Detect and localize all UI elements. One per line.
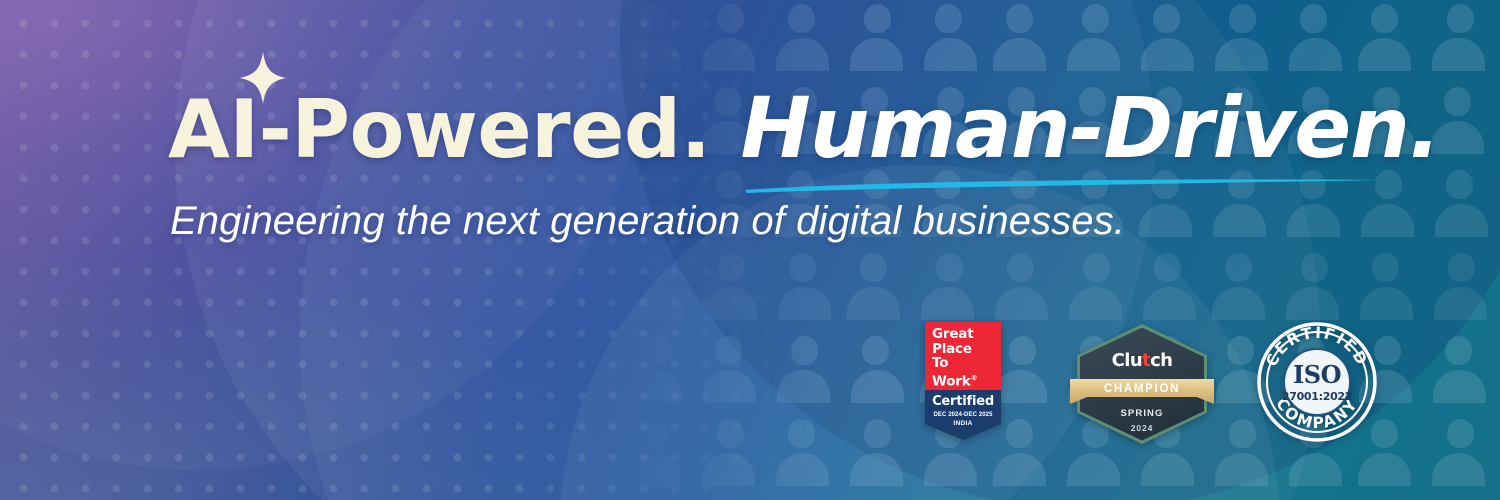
employee-photo-tile <box>839 0 912 71</box>
employee-photo-tile <box>1423 0 1496 71</box>
employee-photo-tile <box>1496 320 1500 403</box>
clutch-year: 2024 <box>1070 423 1214 433</box>
employee-photo-tile <box>1496 237 1500 320</box>
gptw-line-3: To <box>932 356 1001 371</box>
clutch-award-label: CHAMPION <box>1070 379 1214 398</box>
employee-photo-tile <box>1496 71 1500 154</box>
employee-photo-tile <box>1350 237 1423 320</box>
employee-photo-tile <box>839 403 912 486</box>
employee-photo-tile <box>1423 486 1496 500</box>
employee-photo-tile <box>839 237 912 320</box>
gptw-line-1: Great <box>932 327 1001 342</box>
iso-standard-label: ISO <box>1293 363 1341 387</box>
employee-photo-tile <box>620 0 693 71</box>
employee-photo-tile <box>1423 320 1496 403</box>
subtitle: Engineering the next generation of digit… <box>170 199 1125 244</box>
headline: AI-Powered. Human-Driven. <box>168 86 1440 170</box>
employee-photo-tile <box>1350 0 1423 71</box>
hero-banner: AI-Powered. Human-Driven. Engineering th… <box>0 0 1500 500</box>
employee-photo-tile <box>1496 154 1500 237</box>
badge-clutch-champion[interactable]: Clutch CHAMPION SPRING 2024 <box>1070 324 1214 444</box>
employee-photo-tile <box>839 320 912 403</box>
gptw-line-2: Place <box>932 342 1001 357</box>
employee-photo-tile <box>1496 486 1500 500</box>
gptw-red-panel: Great Place To Work® <box>925 322 1001 390</box>
employee-photo-tile <box>1496 0 1500 71</box>
employee-photo-tile <box>693 320 766 403</box>
employee-photo-tile <box>1204 237 1277 320</box>
gptw-date-range: DEC 2024-DEC 2025 <box>925 412 1001 418</box>
employee-photo-tile <box>1496 403 1500 486</box>
employee-photo-tile <box>766 0 839 71</box>
iso-center-disc: ISO 27001:2022 <box>1283 348 1351 416</box>
employee-photo-tile <box>1204 486 1277 500</box>
clutch-season: SPRING <box>1070 408 1214 419</box>
employee-photo-tile <box>1423 237 1496 320</box>
clutch-accent-letter: t <box>1142 350 1150 371</box>
polka-dot-pattern <box>0 0 820 500</box>
employee-photo-tile <box>1204 0 1277 71</box>
employee-photo-tile <box>1131 0 1204 71</box>
employee-photo-tile <box>766 320 839 403</box>
employee-photo-tile <box>912 486 985 500</box>
employee-photo-tile <box>1277 0 1350 71</box>
employee-photo-tile <box>620 237 693 320</box>
employee-photo-tile <box>1277 237 1350 320</box>
employee-photo-tile <box>693 486 766 500</box>
headline-part-1: AI-Powered. <box>168 90 711 170</box>
headline-part-2-wrapper: Human-Driven. <box>741 86 1440 170</box>
badge-iso-certified[interactable]: CERTIFIED COMPANY ISO 27001:2022 <box>1257 322 1377 442</box>
employee-photo-tile <box>693 237 766 320</box>
underline-swoosh <box>743 178 1383 194</box>
employee-photo-tile <box>1058 486 1131 500</box>
employee-photo-tile <box>693 403 766 486</box>
employee-photo-tile <box>620 320 693 403</box>
badge-great-place-to-work[interactable]: Great Place To Work® Certified DEC 2024-… <box>925 322 1001 440</box>
gptw-navy-panel: Certified DEC 2024-DEC 2025 INDIA <box>925 390 1001 440</box>
employee-photo-tile <box>693 0 766 71</box>
employee-photo-tile <box>839 486 912 500</box>
employee-photo-tile <box>985 486 1058 500</box>
iso-standard-number: 27001:2022 <box>1282 391 1352 402</box>
employee-photo-tile <box>766 486 839 500</box>
gptw-line-4: Work® <box>932 371 1001 389</box>
employee-photo-tile <box>1350 486 1423 500</box>
employee-photo-tile <box>766 237 839 320</box>
employee-photo-tile <box>912 237 985 320</box>
employee-photo-tile <box>1058 237 1131 320</box>
gptw-country: INDIA <box>925 420 1001 427</box>
employee-photo-tile <box>985 237 1058 320</box>
employee-photo-tile <box>1131 486 1204 500</box>
gptw-certified-label: Certified <box>925 394 1001 409</box>
employee-photo-tile <box>985 0 1058 71</box>
employee-photo-tile <box>766 403 839 486</box>
employee-photo-tile <box>1277 486 1350 500</box>
registered-mark-icon: ® <box>971 374 978 382</box>
employee-photo-tile <box>620 403 693 486</box>
clutch-wordmark: Clutch <box>1070 350 1214 371</box>
employee-photo-tile <box>620 486 693 500</box>
employee-photo-tile <box>1058 0 1131 71</box>
certification-badges: Great Place To Work® Certified DEC 2024-… <box>912 322 1382 447</box>
employee-photo-tile <box>1131 237 1204 320</box>
employee-photo-tile <box>912 0 985 71</box>
headline-part-2: Human-Driven. <box>741 79 1440 177</box>
employee-photo-tile <box>1423 403 1496 486</box>
